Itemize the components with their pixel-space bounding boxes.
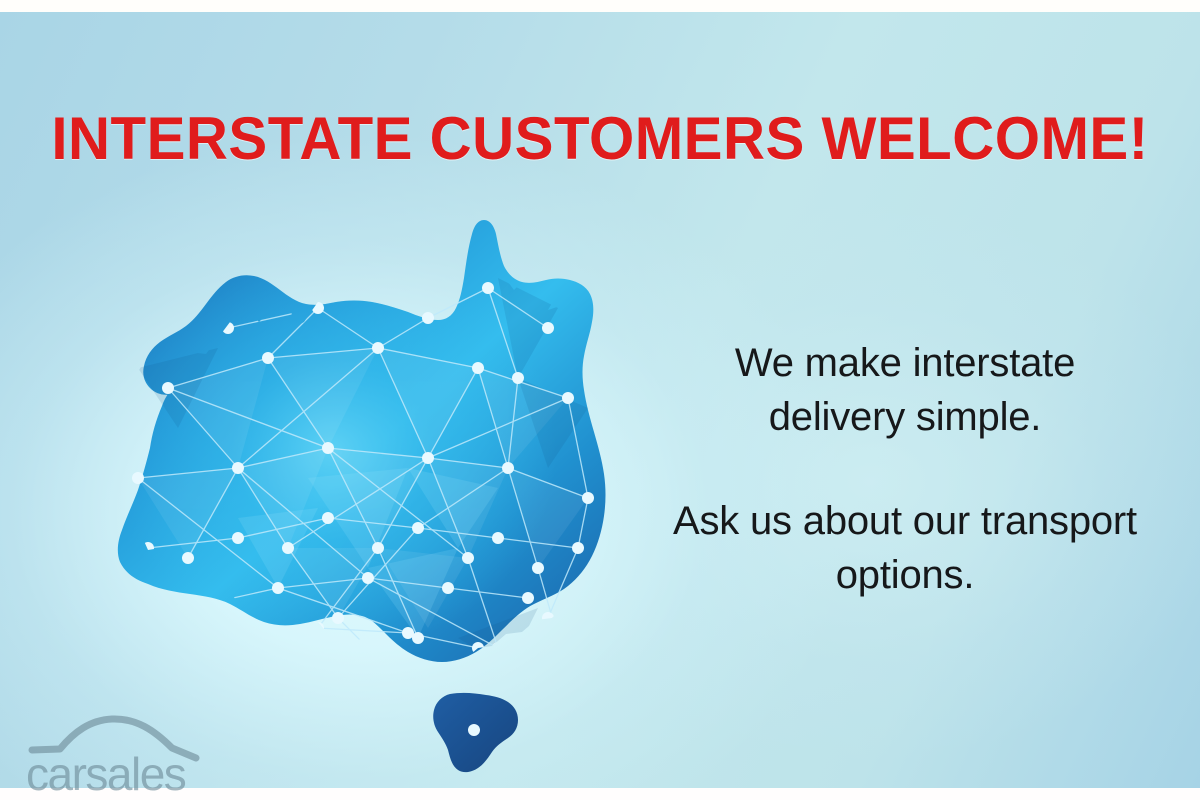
carsales-wordmark: carsales <box>26 748 186 794</box>
australia-map <box>78 218 658 738</box>
top-white-strip <box>0 0 1200 12</box>
copy-block: We make interstate delivery simple. Ask … <box>672 336 1138 602</box>
interstate-customers-banner: INTERSTATE CUSTOMERS WELCOME! <box>0 0 1200 800</box>
copy-paragraph-1: We make interstate delivery simple. <box>672 336 1138 444</box>
carsales-watermark: carsales <box>26 706 216 794</box>
copy-paragraph-2: Ask us about our transport options. <box>672 494 1138 602</box>
headline: INTERSTATE CUSTOMERS WELCOME! <box>18 104 1182 174</box>
